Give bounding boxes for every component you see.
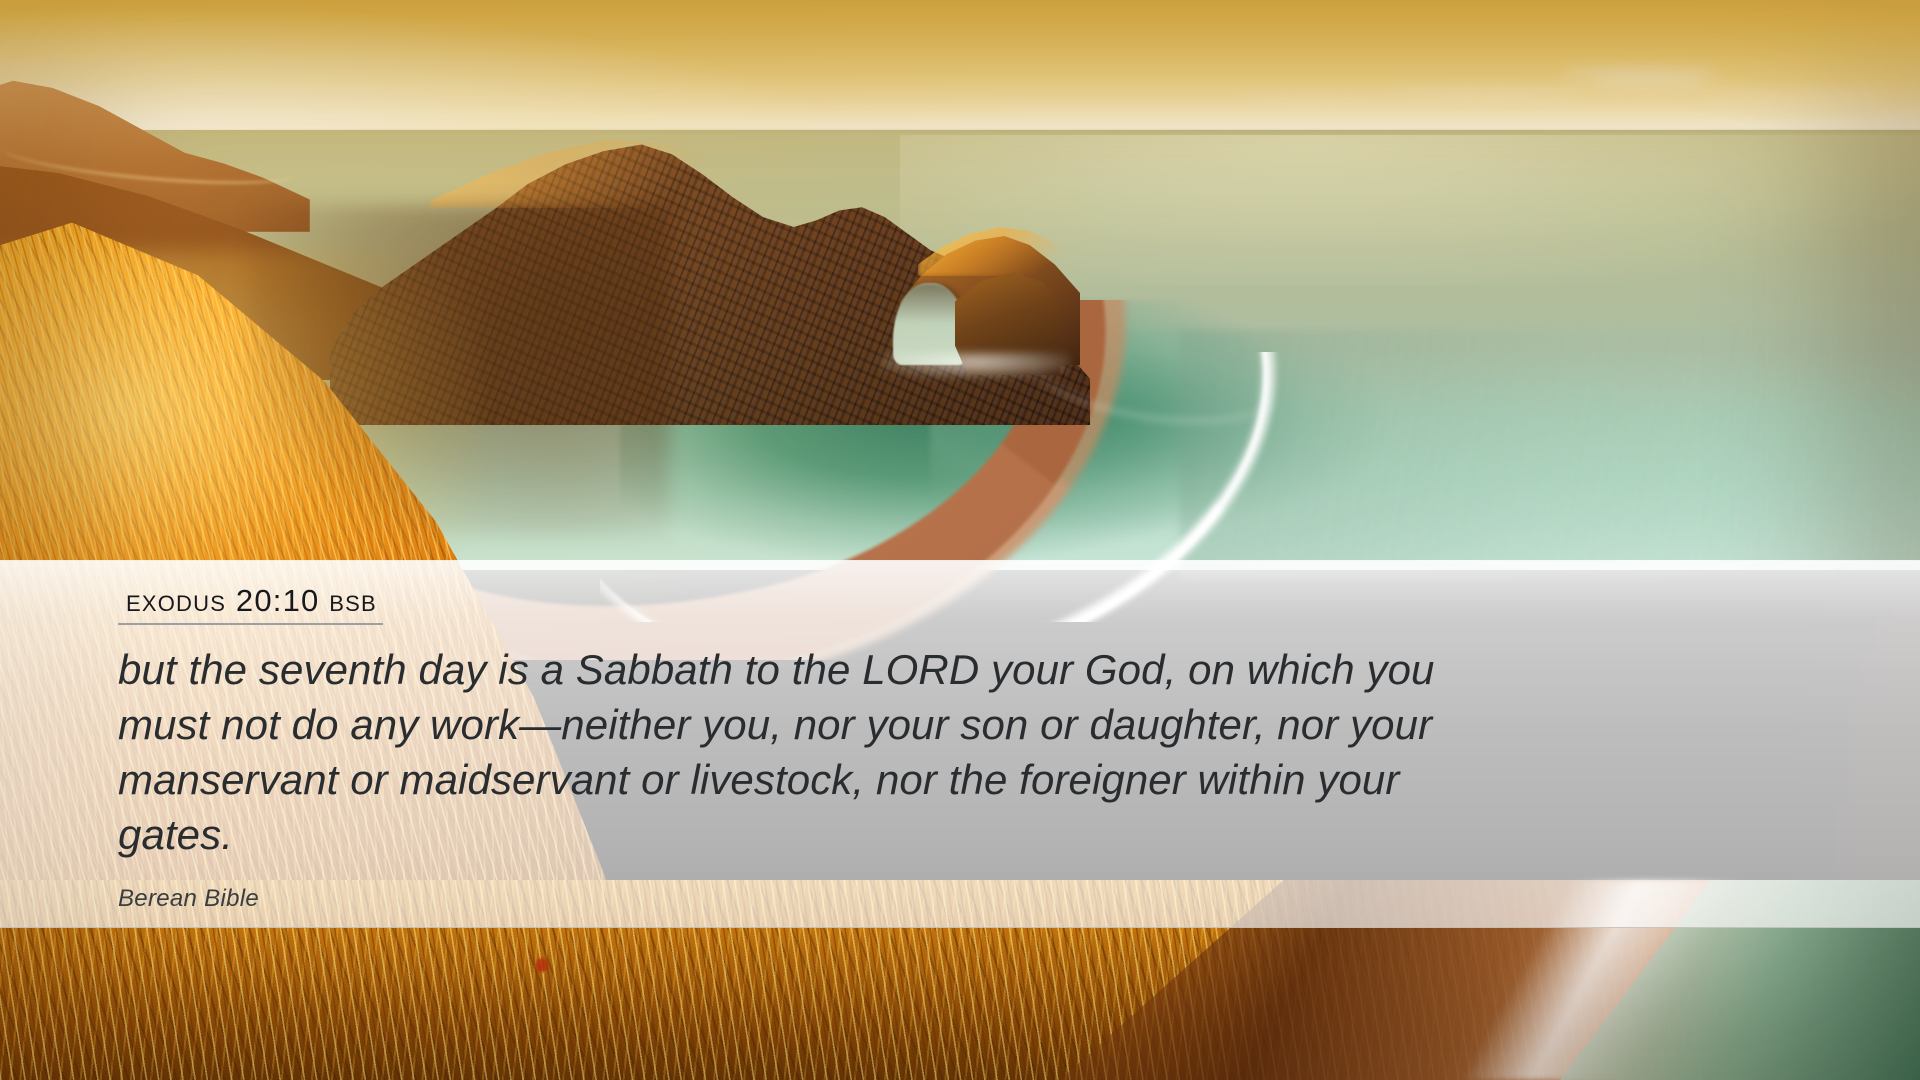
- cloud: [1700, 92, 1890, 102]
- poppy-flower: [536, 958, 548, 972]
- verse-content: Exodus 20:10 BSB but the seventh day is …: [118, 585, 1860, 913]
- cloud: [1380, 88, 1590, 99]
- cloud: [1240, 96, 1390, 105]
- verse-panel: Exodus 20:10 BSB but the seventh day is …: [0, 560, 1920, 928]
- horizon-line: [0, 130, 1920, 132]
- verse-text: but the seventh day is a Sabbath to the …: [118, 642, 1458, 862]
- verse-source: Berean Bible: [118, 885, 1860, 913]
- cloud: [1590, 78, 1710, 90]
- verse-wallpaper: Exodus 20:10 BSB but the seventh day is …: [0, 0, 1920, 1080]
- verse-reference: Exodus 20:10 BSB: [118, 585, 383, 625]
- grass-shadow: [250, 205, 670, 535]
